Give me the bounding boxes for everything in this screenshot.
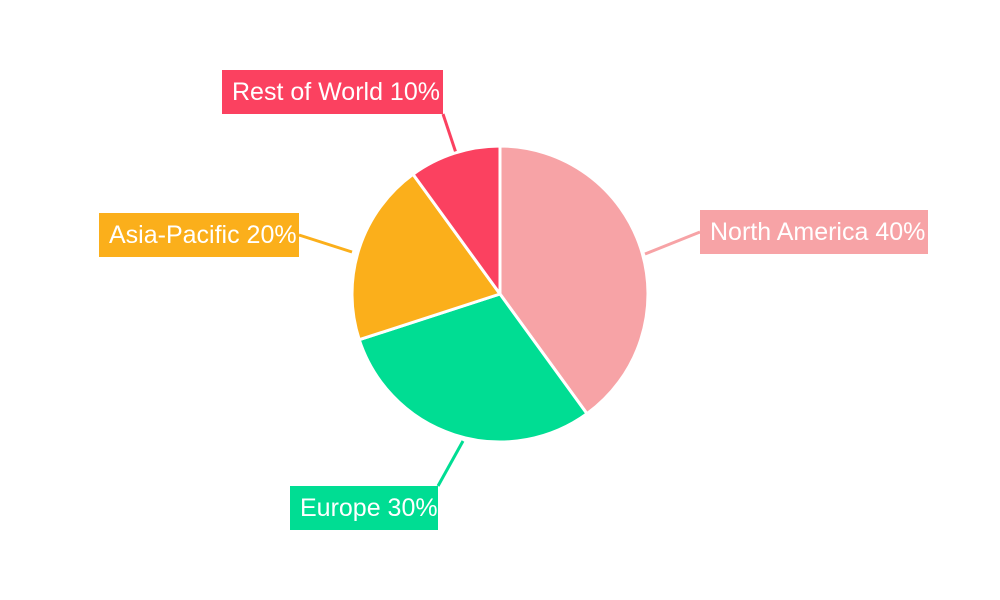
pie-chart-figure: North America 40%Europe 30%Asia-Pacific … [0,0,1000,600]
pie-slice-group [352,146,648,442]
leader-line-europe [438,441,463,486]
pie-label-text: Rest of World 10% [232,70,440,114]
pie-label-europe[interactable]: Europe 30% [290,486,438,530]
pie-label-north-america[interactable]: North America 40% [700,210,928,254]
leader-line-north-america [645,232,700,254]
leader-line-asia-pacific [299,235,352,252]
pie-label-text: Europe 30% [300,486,438,530]
pie-label-text: North America 40% [710,210,925,254]
pie-label-asia-pacific[interactable]: Asia-Pacific 20% [99,213,299,257]
pie-label-text: Asia-Pacific 20% [109,213,297,257]
pie-label-rest-of-world[interactable]: Rest of World 10% [222,70,443,114]
pie-chart-canvas [0,0,1000,600]
